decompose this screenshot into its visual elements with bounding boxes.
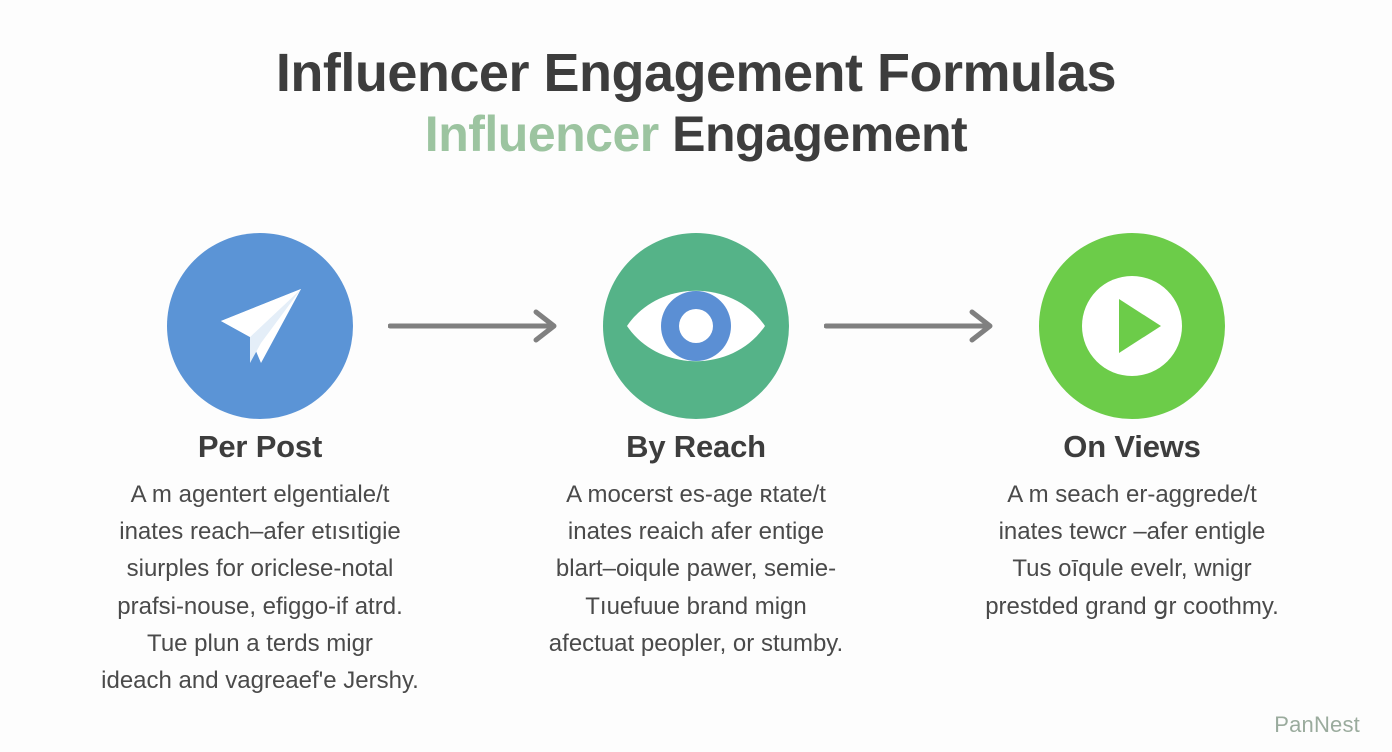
eye-icon-circle: [603, 233, 789, 419]
arrow-step-2-to-3-icon: [824, 309, 1004, 343]
step-column-3: On Views A m seach er-aggrede/t inates t…: [932, 430, 1332, 699]
paper-plane-icon-circle: [167, 233, 353, 419]
step-1-heading: Per Post: [68, 430, 452, 464]
step-2-heading: By Reach: [504, 430, 888, 464]
page-subtitle-accent: Influencer: [425, 106, 659, 162]
step-2-body-line: afectuat peopler, or stumby.: [504, 625, 888, 662]
step-3-body-line: inates tewcr –afer entigle: [940, 513, 1324, 550]
step-3-body: A m seach er-aggrede/t inates tewcr –afe…: [940, 476, 1324, 625]
step-1-body-line: Tue plun a terds migr: [68, 625, 452, 662]
arrow-step-1-to-2-icon: [388, 309, 568, 343]
arrow-slot-1: [358, 228, 598, 424]
step-2-body-line: inates reaich afer entige: [504, 513, 888, 550]
play-icon-circle: [1039, 233, 1225, 419]
step-column-2: By Reach A mocerst es-age ʀtate/t inates…: [496, 430, 896, 699]
eye-icon: [621, 271, 771, 381]
column-gap: [460, 430, 496, 699]
column-gap: [896, 430, 932, 699]
step-text-columns: Per Post A m agentert elgentiale/t inate…: [0, 430, 1392, 699]
step-icon-slot-1: [162, 228, 358, 424]
arrow-slot-2: [794, 228, 1034, 424]
step-2-body: A mocerst es-age ʀtate/t inates reaich a…: [504, 476, 888, 662]
step-3-body-line: prestded grand ցr coothmy.: [940, 588, 1324, 625]
step-column-1: Per Post A m agentert elgentiale/t inate…: [60, 430, 460, 699]
step-1-body-line: prafsi-nouse, efiggo-if atrd.: [68, 588, 452, 625]
watermark: PanNest: [1274, 712, 1360, 738]
step-icon-slot-3: [1034, 228, 1230, 424]
step-3-body-line: A m seach er-aggrede/t: [940, 476, 1324, 513]
step-icon-slot-2: [598, 228, 794, 424]
step-1-body-line: ideach and vagreaef'e Jershy.: [68, 662, 452, 699]
step-flow-row: [0, 228, 1392, 424]
page-title: Influencer Engagement Formulas: [0, 44, 1392, 102]
play-icon: [1067, 261, 1197, 391]
step-2-body-line: Tıuefuue brand mign: [504, 588, 888, 625]
page-subtitle: Influencer Engagement: [0, 106, 1392, 164]
step-1-body-line: siurples for oriclese-notal: [68, 550, 452, 587]
page-subtitle-rest: Engagement: [659, 106, 967, 162]
step-2-body-line: blart–oiqule pawer, semie-: [504, 550, 888, 587]
step-3-heading: On Views: [940, 430, 1324, 464]
step-1-body-line: inates reach–afer etısıtigie: [68, 513, 452, 550]
infographic-poster: Influencer Engagement Formulas Influence…: [0, 0, 1392, 752]
paper-plane-icon: [205, 271, 315, 381]
step-2-body-line: A mocerst es-age ʀtate/t: [504, 476, 888, 513]
step-3-body-line: Tus oīqule evеlr, wnigr: [940, 550, 1324, 587]
step-1-body: A m agentert elgentiale/t inates reach–a…: [68, 476, 452, 699]
title-block: Influencer Engagement Formulas Influence…: [0, 44, 1392, 164]
step-1-body-line: A m agentert elgentiale/t: [68, 476, 452, 513]
